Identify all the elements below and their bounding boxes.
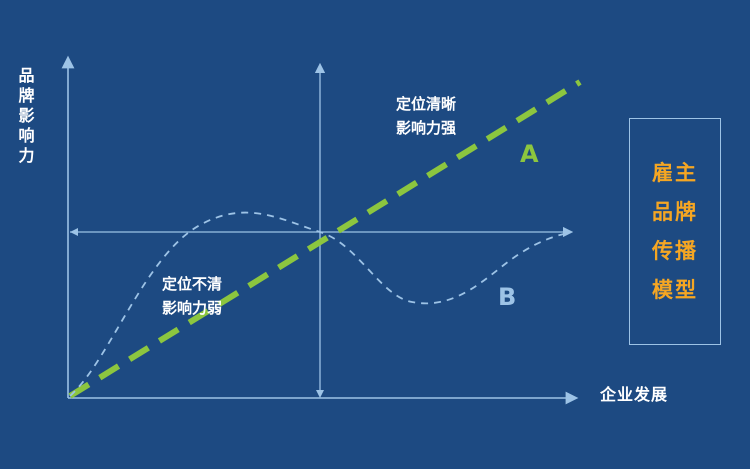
diagram-canvas: 品牌影响力 企业发展 定位清晰 影响力强 定位不清 影响力弱 A B 雇主 品牌…: [0, 0, 750, 469]
annotation-strong-line1: 定位清晰: [396, 92, 456, 116]
curve-label-b: B: [498, 283, 516, 311]
annotation-strong: 定位清晰 影响力强: [396, 92, 456, 140]
annotation-strong-line2: 影响力强: [396, 116, 456, 140]
x-axis-label: 企业发展: [600, 385, 668, 405]
inner-vertical-axis-arrow-down: [316, 390, 324, 398]
title-box: 雇主 品牌 传播 模型: [629, 118, 721, 345]
annotation-weak-line2: 影响力弱: [162, 296, 222, 320]
title-line-3: 传播: [652, 241, 698, 262]
inner-horizontal-axis-arrow-left: [70, 228, 78, 236]
y-axis-label: 品牌影响力: [16, 66, 38, 166]
curve-label-a: A: [520, 140, 539, 168]
annotation-weak-line1: 定位不清: [162, 272, 222, 296]
curve-a-line: [70, 82, 580, 396]
title-line-4: 模型: [652, 280, 698, 301]
title-line-2: 品牌: [652, 202, 698, 223]
title-line-1: 雇主: [652, 163, 698, 184]
annotation-weak: 定位不清 影响力弱: [162, 272, 222, 320]
